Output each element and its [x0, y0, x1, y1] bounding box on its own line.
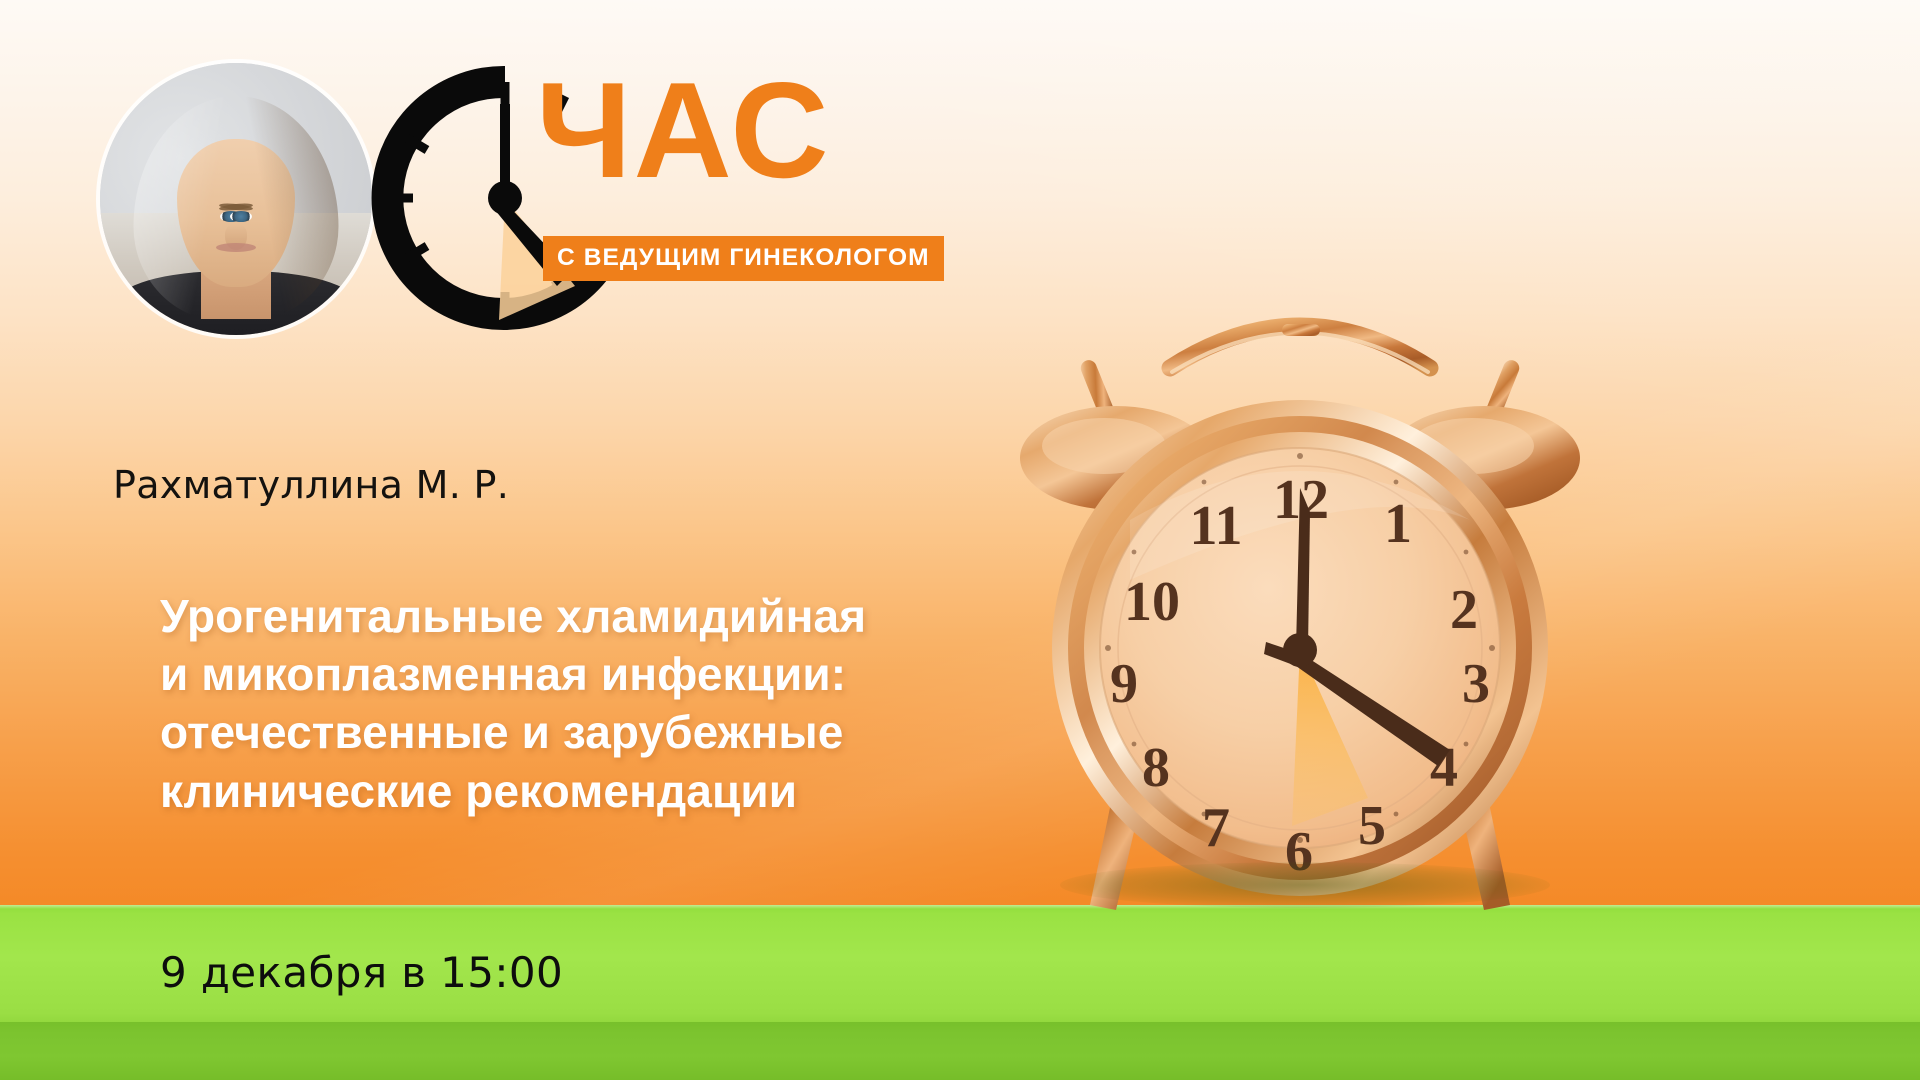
svg-text:8: 8 — [1142, 737, 1170, 799]
logo-subtitle-banner: С ВЕДУЩИМ ГИНЕКОЛОГОМ — [543, 236, 944, 281]
webinar-poster: 12 1 2 3 4 5 6 7 8 9 10 11 — [0, 0, 1920, 1080]
svg-text:11: 11 — [1190, 495, 1243, 557]
svg-text:10: 10 — [1124, 571, 1180, 633]
svg-text:7: 7 — [1202, 797, 1230, 859]
title-line-4: клинические рекомендации — [160, 762, 1120, 820]
svg-text:2: 2 — [1450, 579, 1478, 641]
title-line-2: и микоплазменная инфекции: — [160, 645, 1120, 703]
svg-text:1: 1 — [1384, 493, 1412, 555]
clock-icon-hub — [488, 181, 522, 215]
svg-text:5: 5 — [1358, 795, 1386, 857]
table-highlight-line — [0, 905, 1920, 909]
page-title: Урогенитальные хламидийная и микоплазмен… — [160, 587, 1120, 820]
title-line-1: Урогенитальные хламидийная — [160, 587, 1120, 645]
alarm-clock-shadow — [1060, 862, 1550, 908]
logo-wordmark: ЧАС — [536, 62, 831, 198]
speaker-avatar — [100, 63, 372, 335]
title-line-3: отечественные и зарубежные — [160, 703, 1120, 761]
table-front-edge — [0, 1022, 1920, 1080]
svg-text:3: 3 — [1462, 653, 1490, 715]
speaker-name: Рахматуллина М. Р. — [113, 463, 509, 507]
event-datetime: 9 декабря в 15:00 — [160, 948, 563, 997]
